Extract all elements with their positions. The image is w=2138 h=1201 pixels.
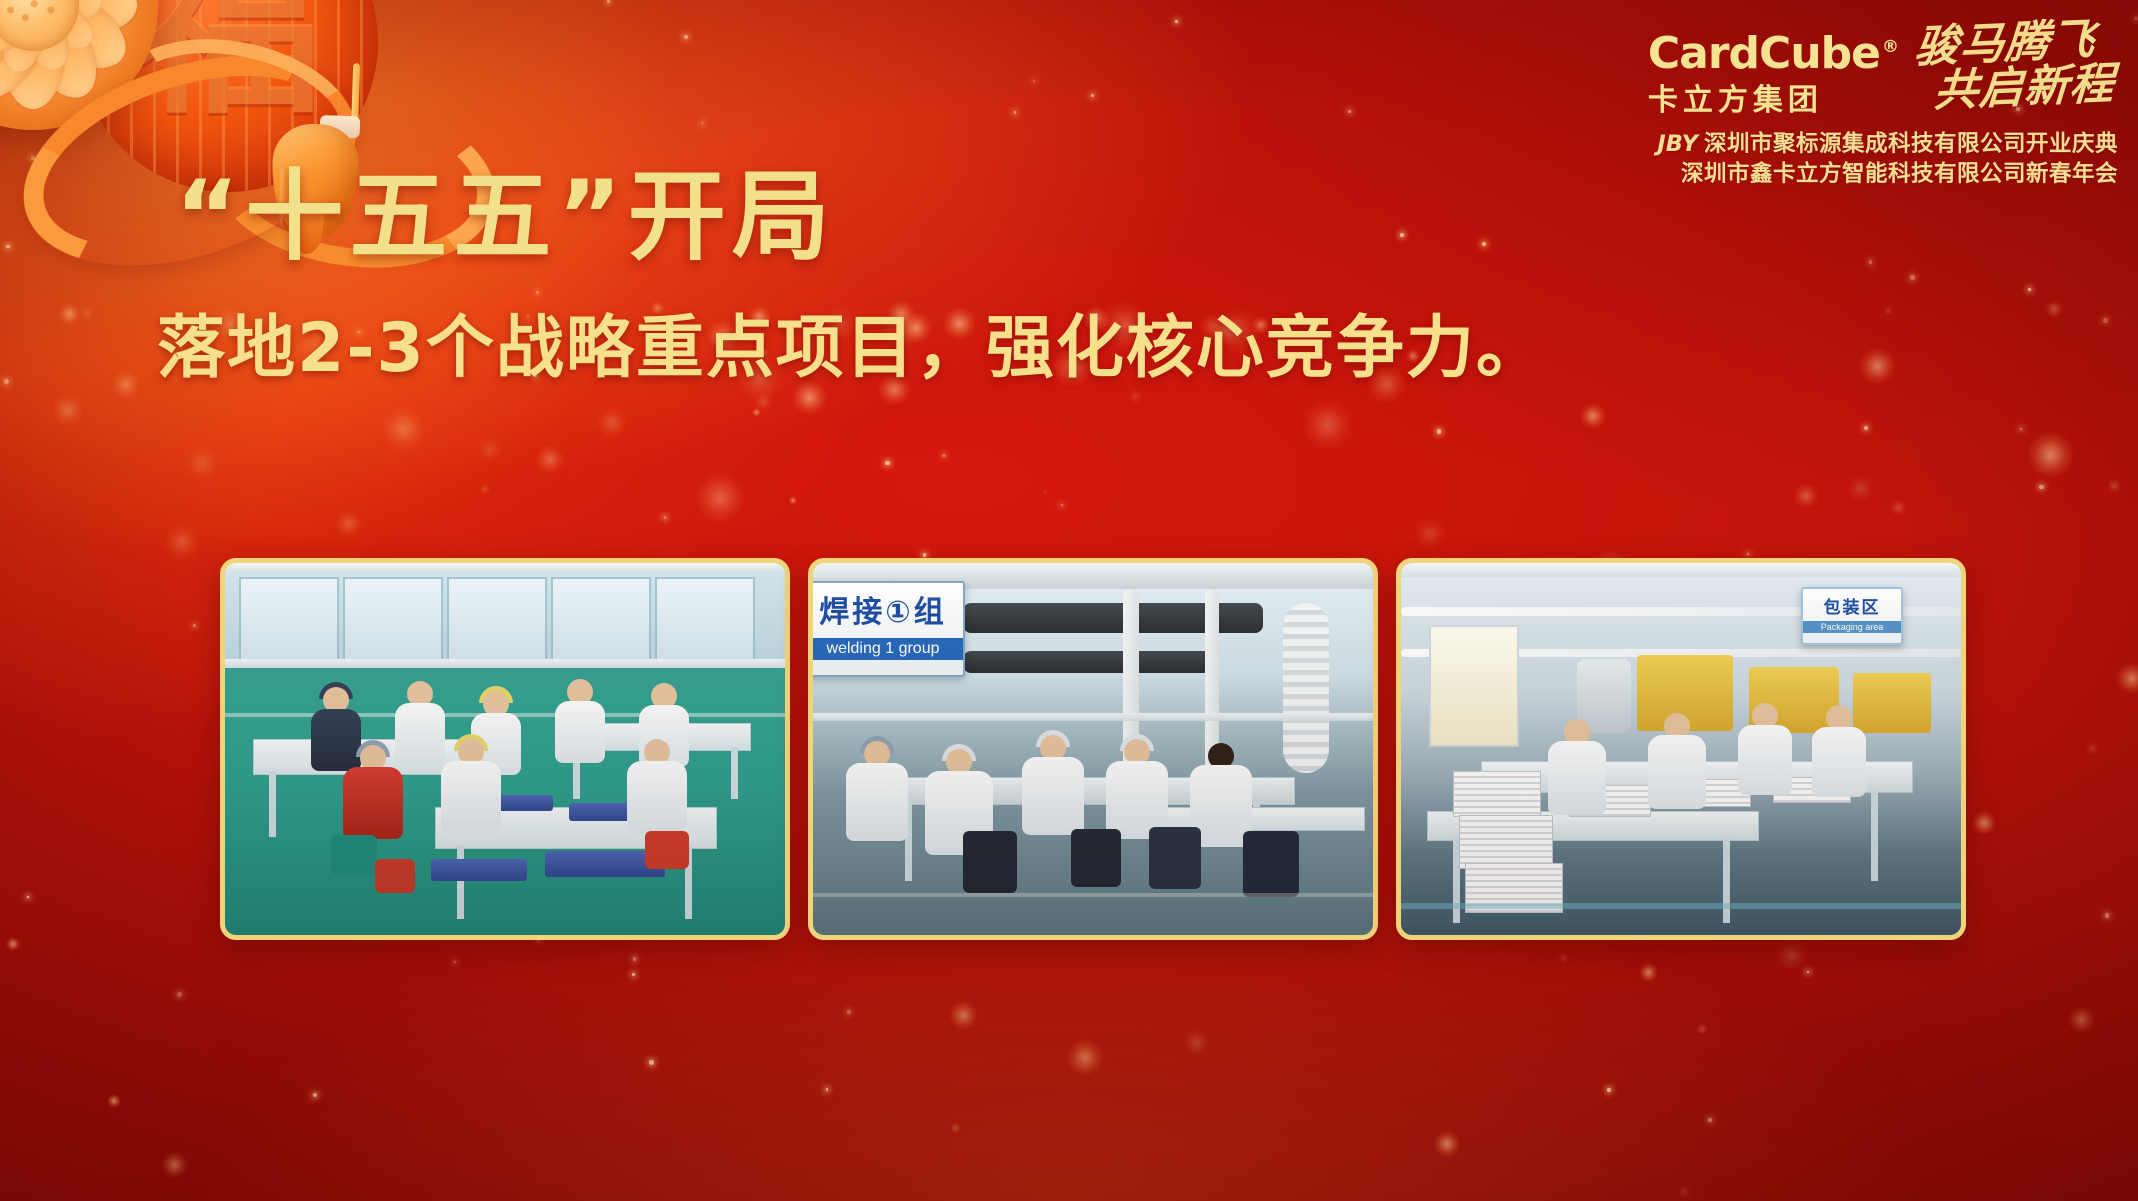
event-line-1: JBY深圳市聚标源集成科技有限公司开业庆典	[1598, 130, 2118, 160]
page-subtitle: 落地2-3个战略重点项目，强化核心竞争力。	[157, 312, 1425, 387]
event-lines: JBY深圳市聚标源集成科技有限公司开业庆典 深圳市鑫卡立方智能科技有限公司新春年…	[1598, 130, 2118, 189]
jby-mark: JBY	[1657, 131, 1698, 157]
photo-assembly-line	[220, 558, 790, 940]
headline-block: “十五五”开局 落地2-3个战略重点项目，强化核心竞争力。	[175, 168, 1425, 387]
registered-mark: ®	[1882, 37, 1898, 57]
calligraphy-slogan: 骏马腾飞 共启新程	[1910, 17, 2118, 115]
brand-block: CardCube® 卡立方集团 骏马腾飞 共启新程 JBY深圳市聚标源集成科技有…	[1598, 26, 2118, 189]
page-title: “十五五”开局	[175, 168, 1425, 266]
brand-name-cn: 卡立方集团	[1648, 86, 1898, 116]
calligraphy-line-2: 共启新程	[1933, 62, 2116, 115]
photo-strip: 焊接①组 welding 1 group	[220, 558, 1966, 940]
photo-welding-group: 焊接①组 welding 1 group	[808, 558, 1378, 940]
event-line-2: 深圳市鑫卡立方智能科技有限公司新春年会	[1598, 160, 2118, 190]
brand-name-en: CardCube®	[1648, 32, 1898, 76]
poster-slide: 福 “十五五”开局 落地2-3个战略重点项目，强化核心竞争力。 CardCube…	[0, 0, 2138, 1201]
photo-packaging-area: 包装区 Packaging area	[1396, 558, 1966, 940]
brand-logo: CardCube® 卡立方集团	[1648, 26, 1898, 116]
